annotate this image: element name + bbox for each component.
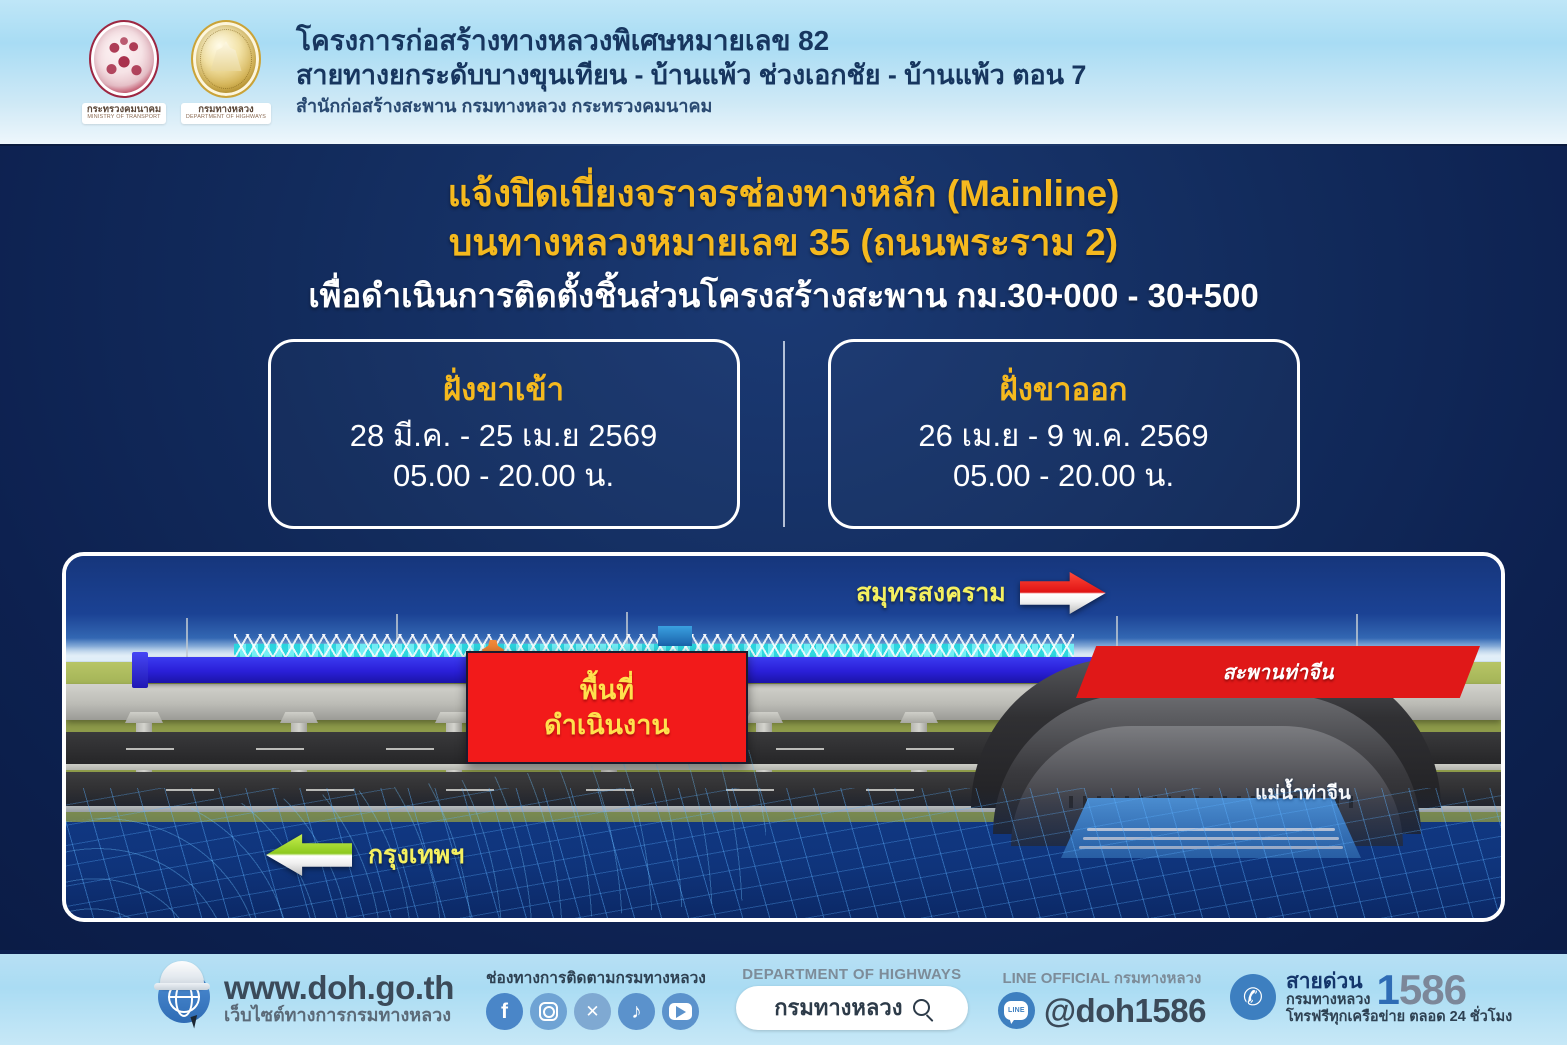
arrow-right-icon — [1020, 572, 1106, 614]
social-caption: ช่องทางการติดตามกรมทางหลวง — [486, 965, 706, 990]
logo-caption-en: MINISTRY OF TRANSPORT — [87, 115, 161, 121]
footer-hotline-block[interactable]: ✆ สายด่วน กรมทางหลวง 1586 โทรฟรีทุกเครือ… — [1230, 971, 1512, 1025]
header-title-block: โครงการก่อสร้างทางหลวงพิเศษหมายเลข 82 สา… — [296, 24, 1086, 119]
schedule-divider — [783, 341, 785, 527]
line-handle-row[interactable]: LINE @doh1586 — [998, 992, 1206, 1030]
girder-end-block — [132, 652, 148, 688]
ministry-of-transport-caption: กระทรวงคมนาคม MINISTRY OF TRANSPORT — [82, 103, 166, 124]
lane-marking — [776, 748, 824, 750]
lane-marking — [126, 748, 174, 750]
main-panel: แจ้งปิดเบี่ยงจราจรช่องทางหลัก (Mainline)… — [0, 144, 1567, 950]
hard-hat-icon — [160, 961, 204, 989]
work-zone-line1: พื้นที่ — [580, 673, 634, 708]
header-logos: กระทรวงคมนาคม MINISTRY OF TRANSPORT กรมท… — [80, 20, 270, 124]
ministry-of-transport-seal-icon — [89, 20, 159, 98]
footer-website-block[interactable]: www.doh.go.th เว็บไซต์ทางการกรมทางหลวง — [0, 971, 454, 1024]
mouse-cursor-icon — [190, 1014, 205, 1029]
phone-icon: ✆ — [1230, 974, 1276, 1020]
direction-to-bangkok: กรุงเทพฯ — [266, 834, 464, 876]
hotline-label-a: สายด่วน — [1286, 971, 1371, 993]
hotline-number-prefix: 1 — [1377, 966, 1399, 1013]
footer-line-block: LINE OFFICIAL กรมทางหลวง LINE @doh1586 — [998, 966, 1206, 1030]
logo-caption-en: DEPARTMENT OF HIGHWAYS — [186, 115, 266, 121]
page-footer: www.doh.go.th เว็บไซต์ทางการกรมทางหลวง ช… — [0, 950, 1567, 1045]
website-url[interactable]: www.doh.go.th — [224, 971, 454, 1005]
hotline-text: สายด่วน กรมทางหลวง 1586 โทรฟรีทุกเครือข่… — [1286, 971, 1512, 1025]
search-pill[interactable]: กรมทางหลวง — [736, 986, 968, 1030]
search-caption: DEPARTMENT OF HIGHWAYS — [736, 966, 968, 983]
line-caption-th: กรมทางหลวง — [1114, 970, 1202, 987]
bridge-name-banner: สะพานท่าจีน — [1076, 646, 1480, 698]
website-subtitle: เว็บไซต์ทางการกรมทางหลวง — [224, 1006, 454, 1024]
gantry-crane-cab-icon — [658, 626, 692, 646]
schedule-row: ฝั่งขาเข้า 28 มี.ค. - 25 เม.ย 2569 05.00… — [0, 339, 1567, 529]
search-keyword: กรมทางหลวง — [774, 990, 902, 1025]
tiktok-icon[interactable]: ♪ — [618, 993, 655, 1030]
youtube-icon[interactable] — [662, 993, 699, 1030]
hotline-number: 1586 — [1377, 972, 1466, 1008]
facebook-icon[interactable]: f — [486, 993, 523, 1030]
lane-marking — [256, 748, 304, 750]
globe-icon — [158, 971, 210, 1023]
project-title-line1: โครงการก่อสร้างทางหลวงพิเศษหมายเลข 82 — [296, 24, 1086, 58]
website-text: www.doh.go.th เว็บไซต์ทางการกรมทางหลวง — [224, 971, 454, 1024]
hotline-label-b: กรมทางหลวง — [1286, 993, 1371, 1008]
project-title-line2: สายทางยกระดับบางขุนเทียน - บ้านแพ้ว ช่วง… — [296, 59, 1086, 92]
project-department-line: สำนักก่อสร้างสะพาน กรมทางหลวง กระทรวงคมน… — [296, 93, 1086, 120]
work-zone-sign: พื้นที่ ดำเนินงาน — [466, 651, 748, 764]
hotline-number-rest: 586 — [1399, 966, 1466, 1013]
direction-to-samut-songkhram: สมุทรสงคราม — [856, 572, 1106, 614]
arrow-left-icon — [266, 834, 352, 876]
lane-marking — [386, 748, 434, 750]
direction-right-label: สมุทรสงคราม — [856, 573, 1006, 613]
schedule-time-range: 05.00 - 20.00 น. — [393, 456, 614, 496]
schedule-time-range: 05.00 - 20.00 น. — [953, 456, 1174, 496]
announcement-subtitle: เพื่อดำเนินการติดตั้งชิ้นส่วนโครงสร้างสะ… — [0, 274, 1567, 319]
logo-department-of-highways: กรมทางหลวง DEPARTMENT OF HIGHWAYS — [182, 20, 270, 124]
footer-social-block: ช่องทางการติดตามกรมทางหลวง f ✕ ♪ — [486, 965, 706, 1030]
department-of-highways-seal-icon — [191, 20, 261, 98]
schedule-date-range: 26 เม.ย - 9 พ.ค. 2569 — [918, 416, 1208, 456]
announcement-title-line1: แจ้งปิดเบี่ยงจราจรช่องทางหลัก (Mainline) — [0, 170, 1567, 219]
x-twitter-icon[interactable]: ✕ — [574, 993, 611, 1030]
bridge-name-label: สะพานท่าจีน — [1223, 656, 1334, 688]
announcement-title-block: แจ้งปิดเบี่ยงจราจรช่องทางหลัก (Mainline)… — [0, 170, 1567, 319]
line-caption-en: LINE OFFICIAL — [1002, 970, 1109, 987]
announcement-title-line2: บนทางหลวงหมายเลข 35 (ถนนพระราม 2) — [0, 219, 1567, 268]
social-icon-row: f ✕ ♪ — [486, 993, 706, 1030]
construction-illustration: สะพานท่าจีน แม่น้ำท่าจีน พื้นที่ ดำเนินง… — [62, 552, 1505, 922]
department-of-highways-caption: กรมทางหลวง DEPARTMENT OF HIGHWAYS — [181, 103, 271, 124]
schedule-card-outbound: ฝั่งขาออก 26 เม.ย - 9 พ.ค. 2569 05.00 - … — [828, 339, 1300, 529]
schedule-heading: ฝั่งขาออก — [1000, 373, 1128, 407]
hotline-subtitle: โทรฟรีทุกเครือข่าย ตลอด 24 ชั่วโมง — [1286, 1010, 1512, 1025]
instagram-icon[interactable] — [530, 993, 567, 1030]
schedule-heading: ฝั่งขาเข้า — [443, 373, 564, 407]
line-caption: LINE OFFICIAL กรมทางหลวง — [998, 966, 1206, 990]
schedule-card-inbound: ฝั่งขาเข้า 28 มี.ค. - 25 เม.ย 2569 05.00… — [268, 339, 740, 529]
search-icon — [913, 999, 930, 1016]
line-app-icon: LINE — [998, 992, 1035, 1029]
line-handle: @doh1586 — [1044, 992, 1206, 1030]
page-header: กระทรวงคมนาคม MINISTRY OF TRANSPORT กรมท… — [0, 0, 1567, 144]
logo-ministry-of-transport: กระทรวงคมนาคม MINISTRY OF TRANSPORT — [80, 20, 168, 124]
work-zone-line2: ดำเนินงาน — [544, 708, 670, 743]
schedule-date-range: 28 มี.ค. - 25 เม.ย 2569 — [350, 416, 658, 456]
direction-left-label: กรุงเทพฯ — [368, 835, 464, 875]
footer-search-block: DEPARTMENT OF HIGHWAYS กรมทางหลวง — [736, 966, 968, 1030]
